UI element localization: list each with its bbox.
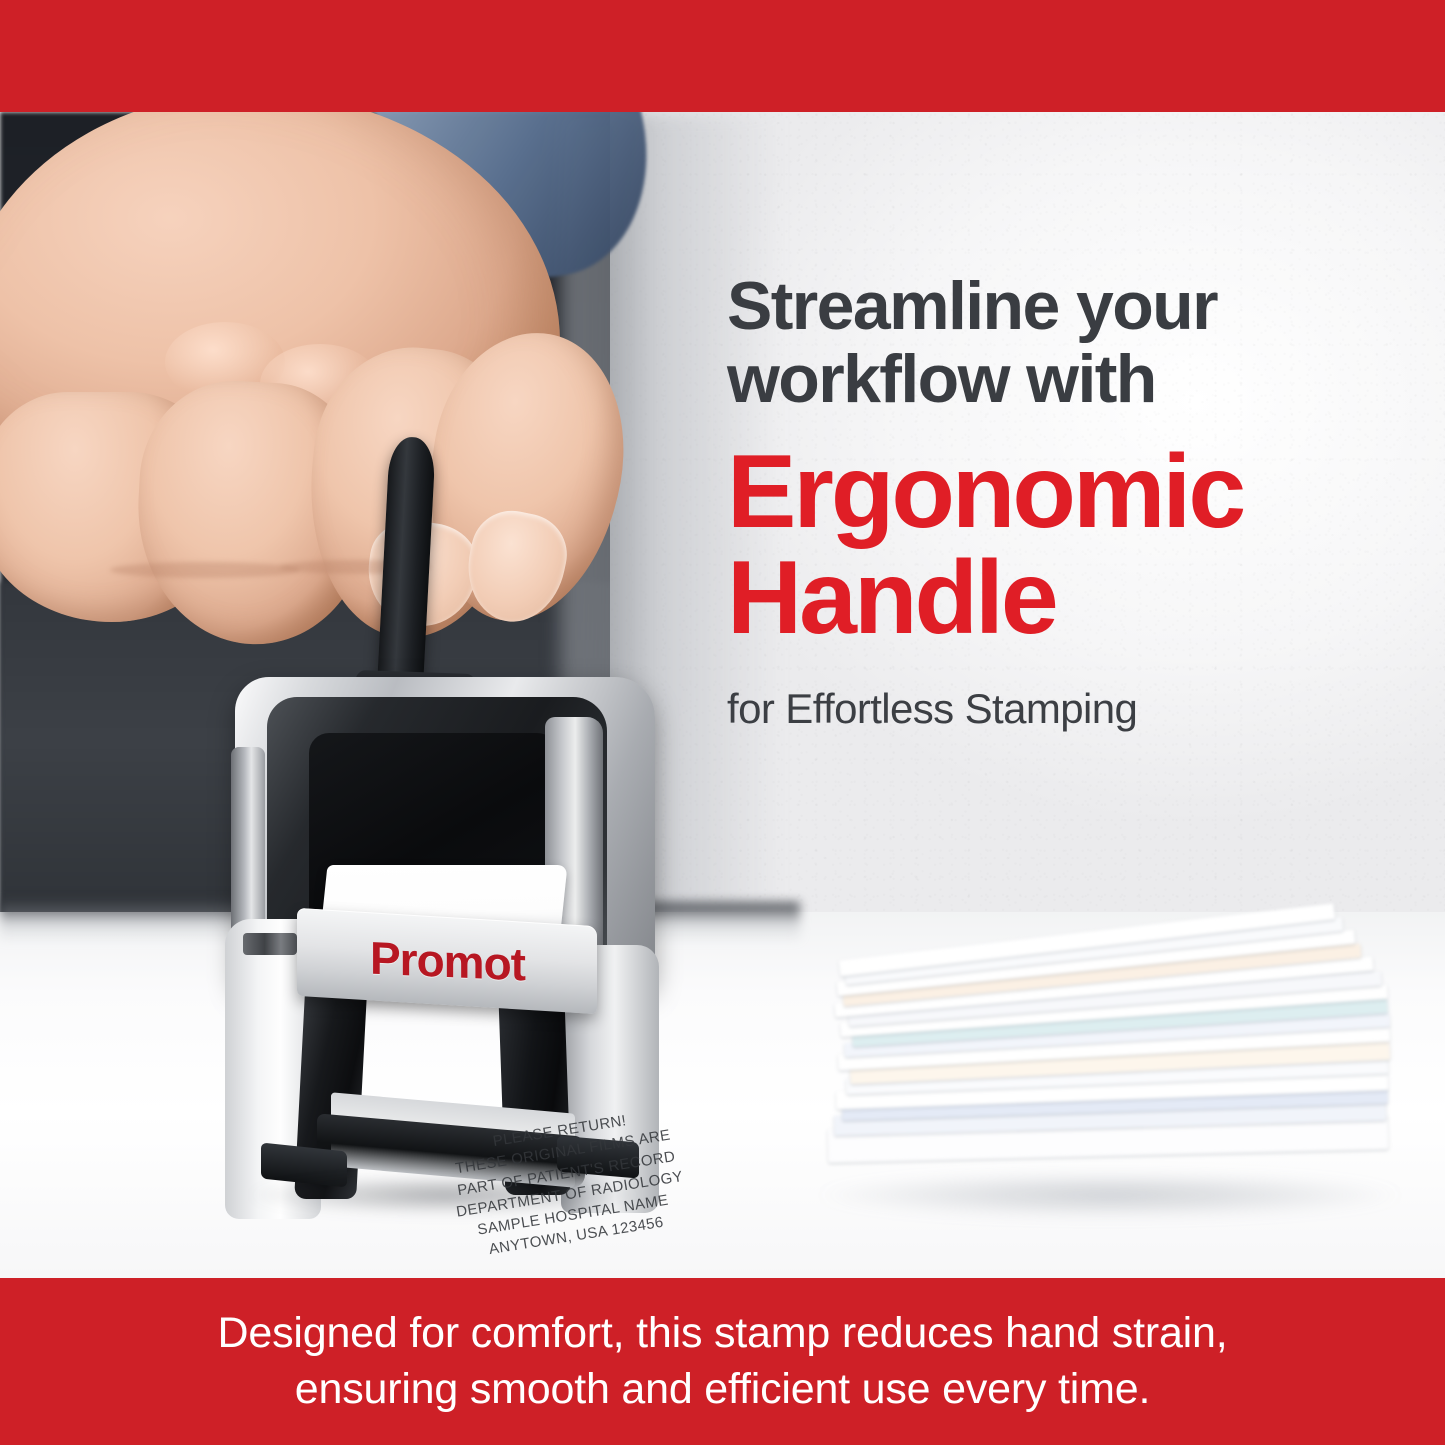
paper-stack-sheets (790, 912, 1430, 1232)
headline-dark-line-2: workflow with (727, 343, 1387, 416)
bottom-red-banner: Designed for comfort, this stamp reduces… (0, 1278, 1445, 1445)
adjustment-dial (243, 933, 297, 955)
headline-red-line-2: Handle (727, 545, 1387, 651)
self-inking-stamp: Promot (205, 547, 675, 1147)
subheadline: for Effortless Stamping (727, 685, 1387, 733)
top-red-banner (0, 0, 1445, 112)
headline-red: Ergonomic Handle (727, 439, 1387, 651)
bottom-banner-line-2: ensuring smooth and efficient use every … (53, 1362, 1393, 1417)
headline-dark-line-1: Streamline your (727, 270, 1387, 343)
headline-dark: Streamline your workflow with (727, 270, 1387, 417)
bottom-banner-text: Designed for comfort, this stamp reduces… (53, 1306, 1393, 1416)
bottom-banner-line-1: Designed for comfort, this stamp reduces… (53, 1306, 1393, 1361)
headline-copy-block: Streamline your workflow with Ergonomic … (727, 270, 1387, 733)
headline-red-line-1: Ergonomic (727, 439, 1387, 545)
brand-logo-text: Promot (370, 931, 525, 992)
product-marketing-image: Promot PLEASE RETURN! THESE ORIGINAL FIL… (0, 0, 1445, 1445)
paper-stack (800, 922, 1420, 1222)
product-photo-stage: Promot PLEASE RETURN! THESE ORIGINAL FIL… (0, 112, 1445, 1278)
brand-label-bar: Promot (297, 908, 597, 1014)
